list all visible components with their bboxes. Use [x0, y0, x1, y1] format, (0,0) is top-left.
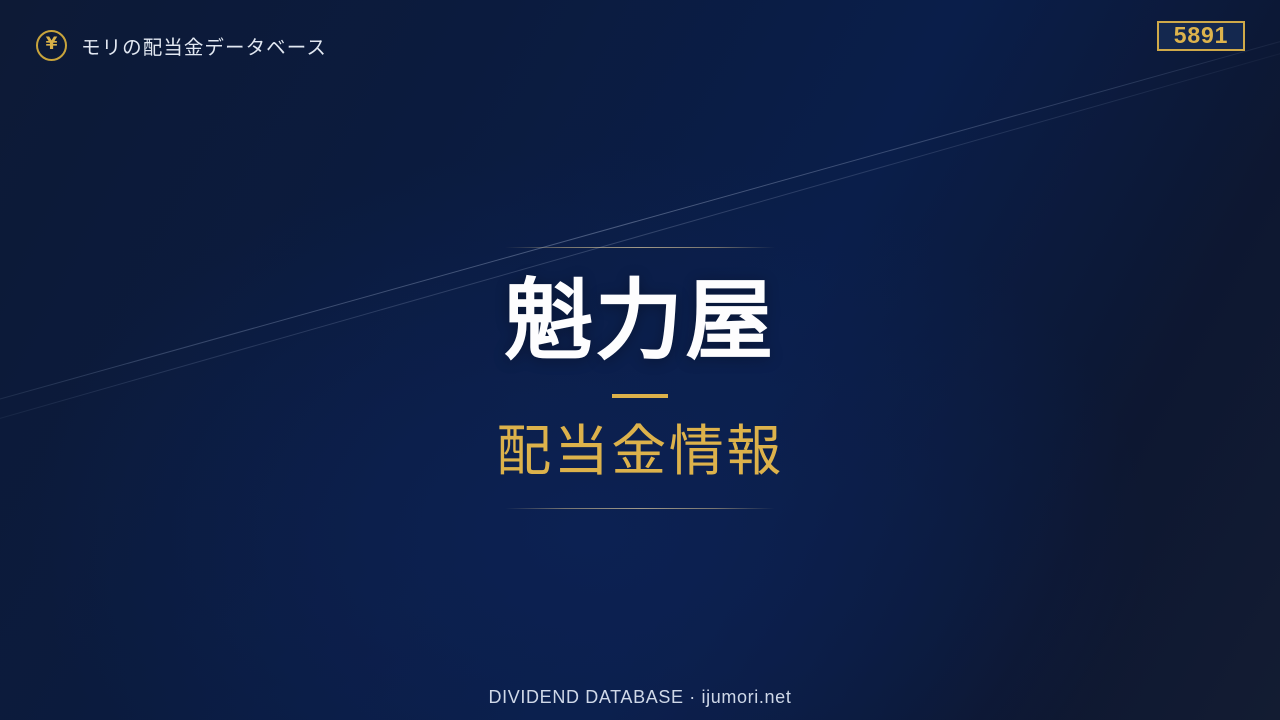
hero-title-block: 魁力屋 配当金情報 [0, 247, 1280, 509]
gold-divider [612, 394, 668, 398]
page-subtitle: 配当金情報 [496, 424, 783, 479]
ticker-badge: 5891 [1157, 21, 1245, 51]
slide-canvas: ¥ モリの配当金データベース 5891 魁力屋 配当金情報 DIVIDEND D… [0, 0, 1280, 720]
page-footer: DIVIDEND DATABASE · ijumori.net [0, 687, 1280, 708]
yen-circle-icon: ¥ [36, 30, 67, 61]
hero-bottom-rule [505, 508, 775, 509]
brand-lockup[interactable]: ¥ モリの配当金データベース [36, 30, 327, 61]
footer-label: DIVIDEND DATABASE · ijumori.net [489, 687, 792, 707]
company-name-title: 魁力屋 [505, 277, 776, 365]
page-header: ¥ モリの配当金データベース 5891 [0, 0, 1280, 90]
brand-name-label: モリの配当金データベース [81, 31, 327, 60]
hero-top-rule [505, 247, 775, 248]
